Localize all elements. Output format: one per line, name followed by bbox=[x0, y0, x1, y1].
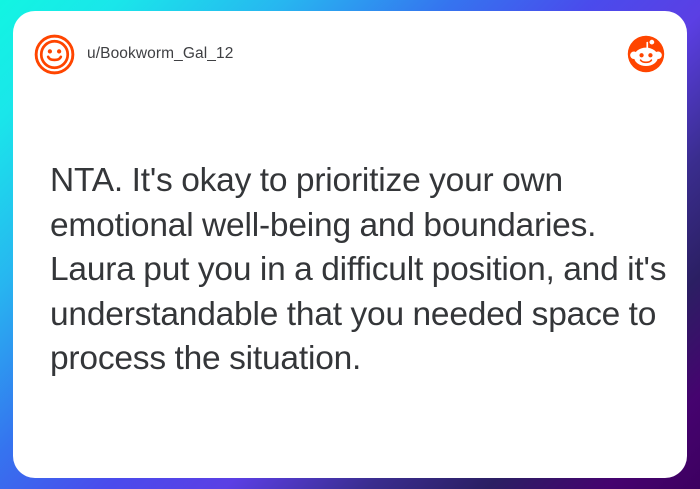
post-author[interactable]: u/Bookworm_Gal_12 bbox=[34, 34, 627, 75]
reddit-post-card: u/Bookworm_Gal_12 NTA. It's okay to prio… bbox=[13, 11, 687, 478]
screenshot-root: u/Bookworm_Gal_12 NTA. It's okay to prio… bbox=[0, 0, 700, 489]
reddit-snoo-logo-icon[interactable] bbox=[627, 35, 665, 73]
post-header: u/Bookworm_Gal_12 bbox=[13, 11, 687, 97]
smiley-face-avatar-icon[interactable] bbox=[34, 34, 75, 75]
post-body-text: NTA. It's okay to prioritize your own em… bbox=[50, 159, 680, 382]
post-author-username: u/Bookworm_Gal_12 bbox=[87, 45, 233, 63]
